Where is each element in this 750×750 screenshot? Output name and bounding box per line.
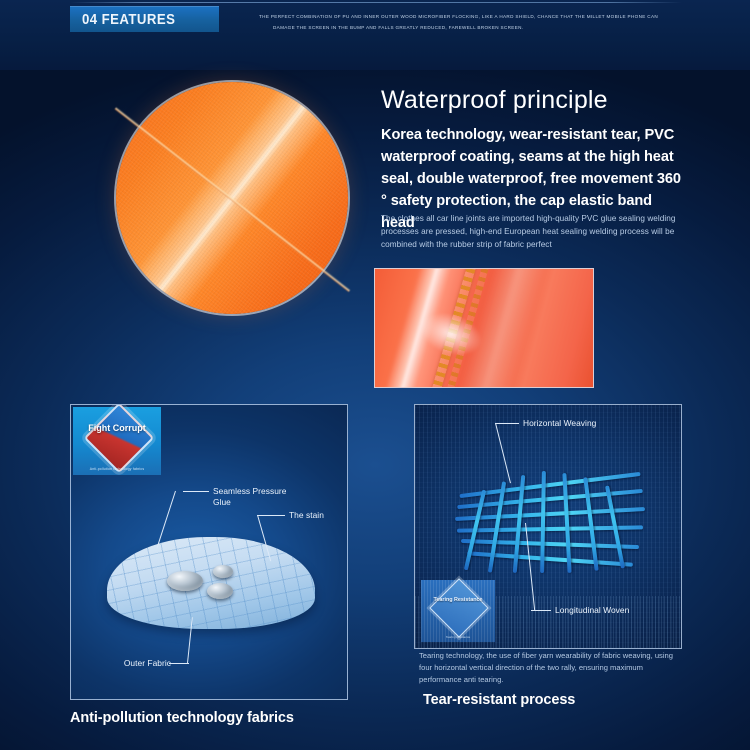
label-the-stain: The stain <box>289 510 348 521</box>
caption-tear-resistant: Tear-resistant process <box>423 692 575 708</box>
anti-pollution-panel: Fight Corrupt Anti-pollution technology … <box>70 404 348 700</box>
waterproof-title: Waterproof principle <box>381 86 608 115</box>
fiber-mesh-illustration <box>455 467 645 587</box>
leader-line-outer-horizontal <box>169 663 189 664</box>
fabric-sheet-grid-texture <box>107 537 315 629</box>
features-banner-label: 04 FEATURES <box>82 11 175 28</box>
header-description-line1: THE PERFECT COMBINATION OF PU AND INNER … <box>259 14 658 19</box>
leader-line-stain-horizontal <box>257 515 285 516</box>
tear-resistant-panel: Horizontal Weaving Longitudinal Woven Te… <box>414 404 682 649</box>
features-banner: 04 FEATURES <box>70 6 219 32</box>
label-horizontal-weaving: Horizontal Weaving <box>523 418 643 429</box>
water-droplet-medium <box>207 583 233 599</box>
label-outer-fabric: Outer Fabric <box>109 658 171 669</box>
caption-anti-pollution: Anti-pollution technology fabrics <box>70 710 294 726</box>
fabric-sheet-top-layer <box>107 537 315 629</box>
badge-diamond-shape <box>429 578 488 637</box>
header-divider-line <box>70 2 682 3</box>
mesh-vertical-strand <box>583 477 598 571</box>
mesh-horizontal-strand <box>461 539 639 549</box>
fight-corrupt-badge: Fight Corrupt Anti-pollution technology … <box>73 407 161 475</box>
leader-line-horizontal-weaving <box>495 423 519 424</box>
tearing-resistance-badge-title: Tearing Resistance <box>421 597 495 604</box>
badge-diamond-shape <box>84 404 155 473</box>
fight-corrupt-badge-title: Fight Corrupt <box>73 423 161 433</box>
orange-fabric-closeup-circle <box>116 82 348 314</box>
header-description-line2: DAMAGE THE SCREEN IN THE BUMP AND FALLS … <box>259 23 679 34</box>
label-seamless-pressure-glue: Seamless Pressure Glue <box>213 486 323 508</box>
infographic-page: 04 FEATURES THE PERFECT COMBINATION OF P… <box>0 0 750 750</box>
tearing-resistance-badge: Tearing Resistance Tearing resistance <box>421 580 495 642</box>
fabric-sheet-illustration <box>101 533 321 653</box>
stitched-seam-photo <box>374 268 594 388</box>
tearing-resistance-badge-subtitle: Tearing resistance <box>421 635 495 639</box>
leader-line-longitudinal-woven <box>531 610 551 611</box>
mesh-horizontal-strand <box>455 507 645 521</box>
water-droplet-large <box>167 571 203 591</box>
water-droplet-small <box>213 565 233 578</box>
label-longitudinal-woven: Longitudinal Woven <box>555 605 675 616</box>
tear-resistant-description: Tearing technology, the use of fiber yar… <box>419 650 681 686</box>
header-description: THE PERFECT COMBINATION OF PU AND INNER … <box>259 12 679 33</box>
leader-line-glue-horizontal <box>183 491 209 492</box>
waterproof-subtext: The clothes all car line joints are impo… <box>381 212 681 251</box>
fight-corrupt-badge-subtitle: Anti-pollution technology fabrics <box>73 467 161 471</box>
